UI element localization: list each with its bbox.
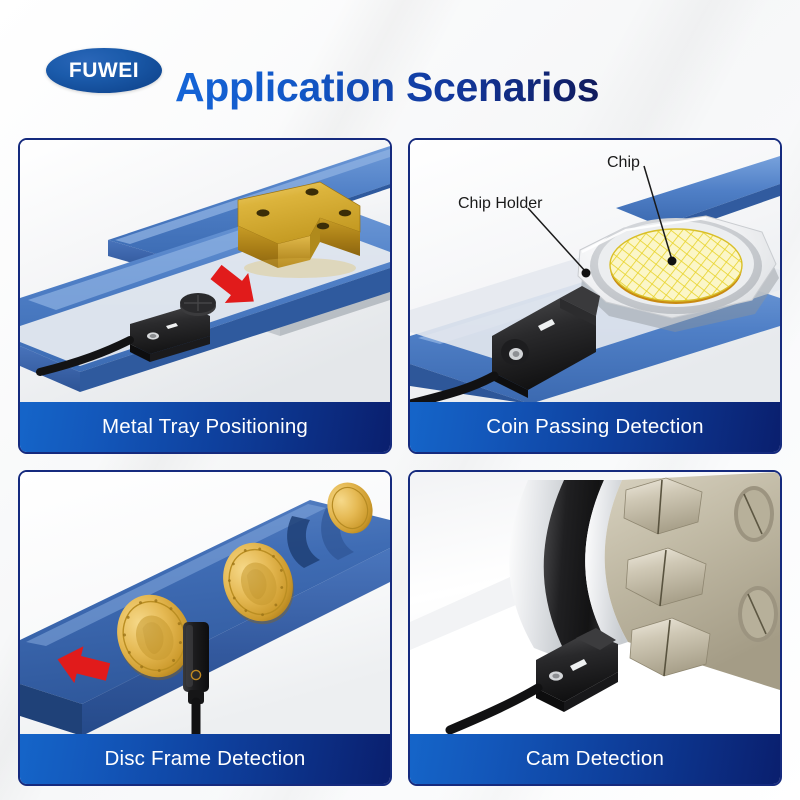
fuwei-logo: FUWEI — [46, 48, 162, 93]
scenario-card-metal-tray-positioning[interactable]: Metal Tray Positioning — [18, 138, 392, 454]
card-caption-bar: Coin Passing Detection — [410, 402, 780, 452]
scenario-card-disc-frame-detection[interactable]: Disc Frame Detection — [18, 470, 392, 786]
scene-metal-tray — [20, 140, 390, 404]
card-caption-bar: Cam Detection — [410, 734, 780, 784]
logo-text: FUWEI — [69, 59, 139, 83]
gold-metal-block — [238, 182, 360, 278]
card-caption-text: Coin Passing Detection — [486, 415, 704, 439]
card-caption-text: Cam Detection — [526, 747, 664, 771]
card-caption-bar: Metal Tray Positioning — [20, 402, 390, 452]
scenario-card-cam-detection[interactable]: Cam Detection — [408, 470, 782, 786]
page-header: FUWEI Application Scenarios — [0, 0, 800, 136]
card-caption-text: Disc Frame Detection — [104, 747, 305, 771]
card-caption-text: Metal Tray Positioning — [102, 415, 308, 439]
scenario-card-coin-passing-detection[interactable]: Chip Chip Holder Coin Passing Detection — [408, 138, 782, 454]
annotation-chip-holder: Chip Holder — [458, 195, 542, 213]
scene-cam-detection — [410, 472, 780, 736]
scene-disc-frame — [20, 472, 390, 736]
scenario-grid: Metal Tray Positioning — [18, 138, 782, 786]
annotation-chip: Chip — [607, 154, 640, 172]
page-title: Application Scenarios — [175, 64, 599, 111]
card-caption-bar: Disc Frame Detection — [20, 734, 390, 784]
cam-teeth — [624, 478, 710, 676]
scene-coin-passing: Chip Chip Holder — [410, 140, 780, 404]
